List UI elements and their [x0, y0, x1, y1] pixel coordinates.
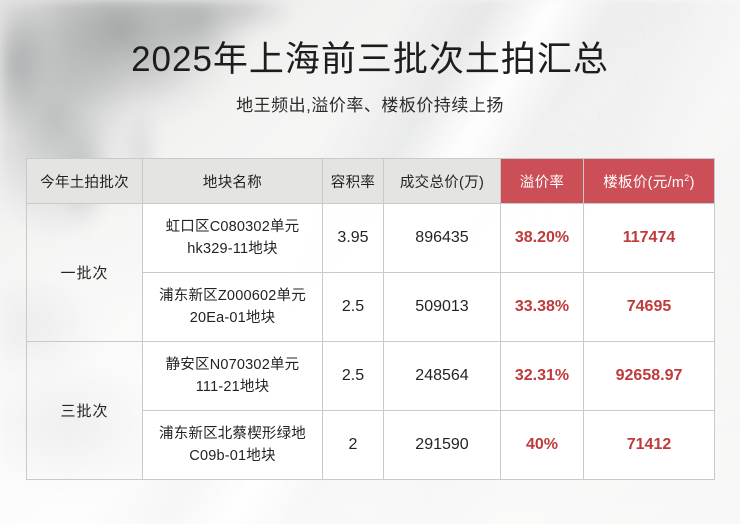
land-auction-summary-table: 今年土拍批次 地块名称 容积率 成交总价(万) 溢价率 楼板价(元/m2) 一批…	[26, 158, 715, 480]
plot-name-line1: 浦东新区北蔡楔形绿地	[143, 423, 322, 445]
far-cell: 2.5	[323, 273, 384, 342]
total-price-cell: 291590	[384, 411, 501, 480]
total-price-cell: 896435	[384, 204, 501, 273]
plot-name-line1: 静安区N070302单元	[143, 354, 322, 376]
floor-price-cell: 92658.97	[584, 342, 715, 411]
far-cell: 2	[323, 411, 384, 480]
column-header-total: 成交总价(万)	[384, 159, 501, 204]
page-title: 2025年上海前三批次土拍汇总	[0, 38, 740, 82]
plot-name-cell: 浦东新区北蔡楔形绿地 C09b-01地块	[143, 411, 323, 480]
batch-group-label-2: 三批次	[27, 342, 143, 480]
total-price-cell: 248564	[384, 342, 501, 411]
floor-price-cell: 71412	[584, 411, 715, 480]
plot-name-cell: 静安区N070302单元 111-21地块	[143, 342, 323, 411]
table-row: 一批次 虹口区C080302单元 hk329-11地块 3.95 896435 …	[27, 204, 715, 273]
column-header-floor-price: 楼板价(元/m2)	[584, 159, 715, 204]
column-header-premium: 溢价率	[501, 159, 584, 204]
plot-name-line2: C09b-01地块	[143, 445, 322, 467]
batch-group-label-1: 一批次	[27, 204, 143, 342]
plot-name-cell: 虹口区C080302单元 hk329-11地块	[143, 204, 323, 273]
column-header-far: 容积率	[323, 159, 384, 204]
table-header-row: 今年土拍批次 地块名称 容积率 成交总价(万) 溢价率 楼板价(元/m2)	[27, 159, 715, 204]
premium-rate-cell: 38.20%	[501, 204, 584, 273]
table-row: 三批次 静安区N070302单元 111-21地块 2.5 248564 32.…	[27, 342, 715, 411]
total-price-cell: 509013	[384, 273, 501, 342]
premium-rate-cell: 32.31%	[501, 342, 584, 411]
floor-price-cell: 117474	[584, 204, 715, 273]
far-cell: 2.5	[323, 342, 384, 411]
premium-rate-cell: 40%	[501, 411, 584, 480]
plot-name-cell: 浦东新区Z000602单元 20Ea-01地块	[143, 273, 323, 342]
far-cell: 3.95	[323, 204, 384, 273]
premium-rate-cell: 33.38%	[501, 273, 584, 342]
poster-page: 2025年上海前三批次土拍汇总 地王频出,溢价率、楼板价持续上扬 今年土拍批次 …	[0, 0, 740, 524]
page-subtitle: 地王频出,溢价率、楼板价持续上扬	[0, 93, 740, 119]
plot-name-line1: 虹口区C080302单元	[143, 216, 322, 238]
poster-content: 2025年上海前三批次土拍汇总 地王频出,溢价率、楼板价持续上扬 今年土拍批次 …	[0, 0, 740, 524]
plot-name-line2: hk329-11地块	[143, 238, 322, 260]
column-header-floor-price-tail: )	[690, 175, 695, 191]
column-header-plot: 地块名称	[143, 159, 323, 204]
plot-name-line2: 111-21地块	[143, 376, 322, 398]
table-header: 今年土拍批次 地块名称 容积率 成交总价(万) 溢价率 楼板价(元/m2)	[27, 159, 715, 204]
column-header-batch: 今年土拍批次	[27, 159, 143, 204]
column-header-floor-price-text: 楼板价(元/m	[603, 175, 684, 191]
plot-name-line1: 浦东新区Z000602单元	[143, 285, 322, 307]
table-body: 一批次 虹口区C080302单元 hk329-11地块 3.95 896435 …	[27, 204, 715, 480]
floor-price-cell: 74695	[584, 273, 715, 342]
plot-name-line2: 20Ea-01地块	[143, 307, 322, 329]
